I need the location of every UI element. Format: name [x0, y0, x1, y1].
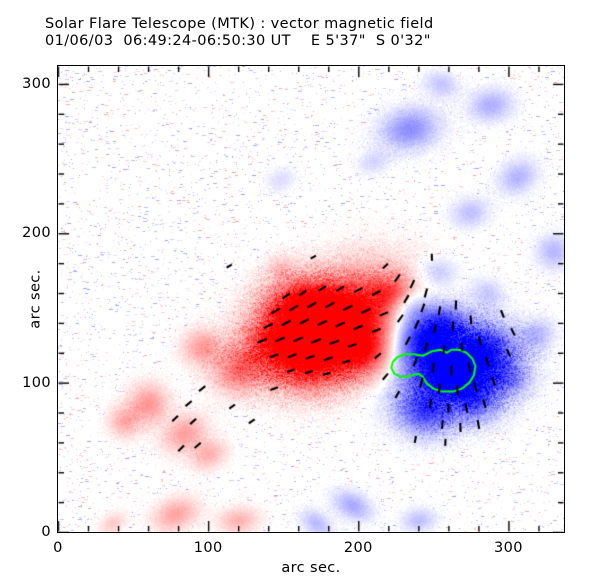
- plot-area: [58, 66, 564, 532]
- y-axis-title: arc sec.: [28, 269, 44, 328]
- y-tick-label: 300: [22, 76, 51, 92]
- y-tick-label: 100: [22, 375, 51, 391]
- x-axis-title: arc sec.: [281, 560, 340, 576]
- figure-title: Solar Flare Telescope (MTK) : vector mag…: [45, 16, 434, 32]
- x-tick-label: 100: [194, 540, 223, 556]
- magnetogram-figure: Solar Flare Telescope (MTK) : vector mag…: [0, 0, 612, 585]
- figure-subtitle: 01/06/03 06:49:24-06:50:30 UT E 5'37" S …: [45, 33, 431, 49]
- x-tick-label: 200: [344, 540, 373, 556]
- magnetogram-image: [58, 66, 564, 532]
- y-tick-label: 200: [22, 225, 51, 241]
- x-tick-label: 300: [494, 540, 523, 556]
- x-tick-label: 0: [53, 540, 63, 556]
- y-tick-label: 0: [41, 524, 51, 540]
